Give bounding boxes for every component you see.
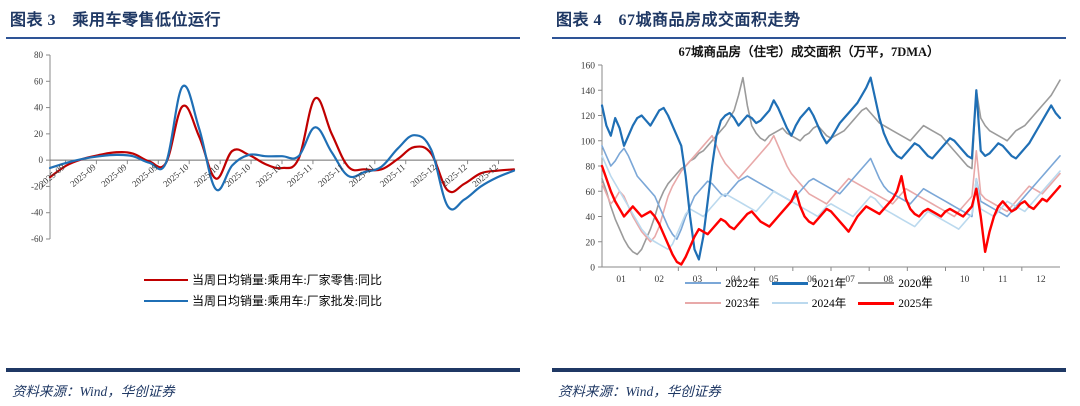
svg-text:40: 40 bbox=[34, 103, 44, 113]
legend-row: 2023年 2024年 2025年 bbox=[685, 295, 933, 311]
panel-4-source: 资料来源：Wind，华创证券 bbox=[558, 380, 1062, 400]
chart-4-heading: 67城商品房（住宅）成交面积（万平，7DMA） bbox=[552, 41, 1066, 60]
legend-row: 当周日均销量:乘用车:厂家批发:同比 bbox=[144, 292, 382, 309]
svg-text:80: 80 bbox=[34, 50, 44, 60]
legend-swatch-line-icon bbox=[144, 300, 188, 302]
panel-3-header: 图表 3 乘用车零售低位运行 bbox=[0, 0, 526, 32]
svg-text:0: 0 bbox=[39, 155, 44, 165]
chart-3-axes: -60-40-20020406080 bbox=[31, 50, 514, 244]
panel-3-title: 图表 3 乘用车零售低位运行 bbox=[10, 6, 516, 30]
svg-text:2025-09: 2025-09 bbox=[130, 162, 160, 189]
svg-text:120: 120 bbox=[581, 112, 596, 122]
legend-row: 2022年 2021年 2020年 bbox=[685, 275, 933, 291]
figure-board: 图表 3 乘用车零售低位运行 -60-40-20020406080 2025-0… bbox=[0, 0, 1080, 406]
legend-item-wholesale[interactable]: 当周日均销量:乘用车:厂家批发:同比 bbox=[144, 292, 382, 309]
svg-text:100: 100 bbox=[581, 137, 596, 147]
legend-row: 当周日均销量:乘用车:厂家零售:同比 bbox=[144, 271, 382, 288]
svg-text:2025-12: 2025-12 bbox=[409, 162, 438, 189]
legend-item-2020[interactable]: 2020年 bbox=[858, 275, 933, 291]
legend-swatch-line-icon bbox=[858, 302, 894, 305]
panel-4-header: 图表 4 67城商品房成交面积走势 bbox=[546, 0, 1072, 32]
legend-item-2025[interactable]: 2025年 bbox=[858, 295, 933, 311]
legend-swatch-line-icon bbox=[144, 279, 188, 281]
svg-text:0: 0 bbox=[590, 264, 595, 274]
legend-label: 2023年 bbox=[725, 295, 760, 311]
chart-4-area: 67城商品房（住宅）成交面积（万平，7DMA） 0204060801001201… bbox=[552, 39, 1066, 368]
svg-text:80: 80 bbox=[586, 163, 596, 173]
svg-text:20: 20 bbox=[586, 238, 596, 248]
svg-text:-60: -60 bbox=[31, 234, 43, 244]
legend-label: 2025年 bbox=[898, 295, 933, 311]
legend-swatch-line-icon bbox=[772, 302, 808, 304]
panel-4-footer: 资料来源：Wind，华创证券 bbox=[546, 372, 1072, 406]
chart-4-legend: 2022年 2021年 2020年 2023年 bbox=[552, 275, 1066, 311]
svg-text:-40: -40 bbox=[31, 208, 43, 218]
panel-3-footer: 资料来源：Wind，华创证券 bbox=[0, 372, 526, 406]
chart-4-series bbox=[602, 78, 1060, 265]
panel-4-title: 图表 4 67城商品房成交面积走势 bbox=[556, 6, 1062, 30]
svg-text:40: 40 bbox=[586, 213, 596, 223]
svg-text:60: 60 bbox=[586, 188, 596, 198]
legend-label: 2022年 bbox=[725, 275, 760, 291]
legend-label: 当周日均销量:乘用车:厂家批发:同比 bbox=[192, 292, 382, 309]
legend-item-2023[interactable]: 2023年 bbox=[685, 295, 760, 311]
svg-text:20: 20 bbox=[34, 129, 44, 139]
legend-item-2021[interactable]: 2021年 bbox=[772, 275, 847, 291]
chart-3-legend: 当周日均销量:乘用车:厂家零售:同比 当周日均销量:乘用车:厂家批发:同比 bbox=[6, 271, 520, 309]
svg-text:2025-11: 2025-11 bbox=[347, 162, 376, 189]
legend-item-2024[interactable]: 2024年 bbox=[772, 295, 847, 311]
svg-text:160: 160 bbox=[581, 62, 596, 72]
panel-figure-3: 图表 3 乘用车零售低位运行 -60-40-20020406080 2025-0… bbox=[0, 0, 526, 406]
svg-text:2025-09: 2025-09 bbox=[99, 162, 129, 189]
svg-text:2025-09: 2025-09 bbox=[37, 162, 67, 189]
legend-label: 2021年 bbox=[812, 275, 847, 291]
legend-label: 当周日均销量:乘用车:厂家零售:同比 bbox=[192, 271, 382, 288]
svg-text:140: 140 bbox=[581, 87, 596, 97]
legend-item-retail[interactable]: 当周日均销量:乘用车:厂家零售:同比 bbox=[144, 271, 382, 288]
legend-item-2022[interactable]: 2022年 bbox=[685, 275, 760, 291]
legend-swatch-line-icon bbox=[685, 302, 721, 304]
svg-text:2025-09: 2025-09 bbox=[68, 162, 98, 189]
legend-swatch-line-icon bbox=[685, 282, 721, 284]
legend-label: 2024年 bbox=[812, 295, 847, 311]
panel-3-source: 资料来源：Wind，华创证券 bbox=[12, 380, 516, 400]
svg-text:2025-11: 2025-11 bbox=[316, 162, 345, 189]
svg-text:60: 60 bbox=[34, 76, 44, 86]
legend-label: 2020年 bbox=[898, 275, 933, 291]
chart-3-area: -60-40-20020406080 2025-092025-092025-09… bbox=[6, 39, 520, 368]
panel-figure-4: 图表 4 67城商品房成交面积走势 67城商品房（住宅）成交面积（万平，7DMA… bbox=[546, 0, 1072, 406]
legend-swatch-line-icon bbox=[858, 282, 894, 284]
svg-text:2025-11: 2025-11 bbox=[285, 162, 314, 189]
legend-swatch-line-icon bbox=[772, 282, 808, 285]
chart-3-series bbox=[50, 86, 514, 210]
